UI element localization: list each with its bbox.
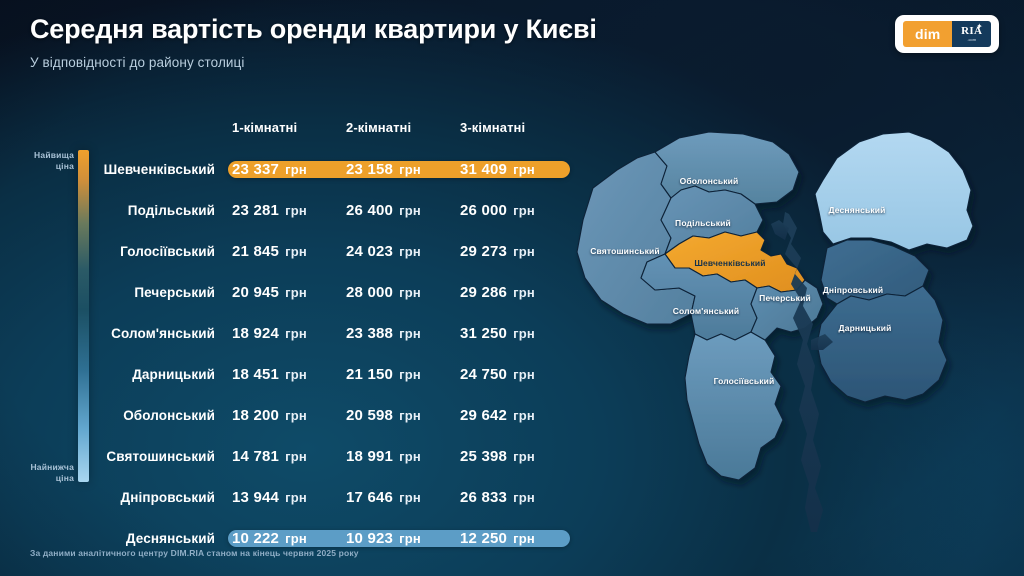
- price-value: 25 398: [460, 448, 507, 465]
- price-scale-gradient: [78, 150, 89, 482]
- source-note: За даними аналітичного центру DIM.RIA ст…: [30, 548, 359, 558]
- table-row[interactable]: Святошинський14 781грн18 991грн25 398грн: [100, 439, 570, 474]
- column-header-2-room: 2-кімнатні: [342, 120, 456, 135]
- currency-label: грн: [513, 531, 535, 546]
- price-cell: 10 222грн: [228, 530, 342, 547]
- currency-label: грн: [285, 367, 307, 382]
- currency-label: грн: [399, 203, 421, 218]
- kyiv-districts-map: ОболонськийПодільськийДеснянськийСвятоши…: [575, 128, 1024, 548]
- map-label: Голосіївський: [714, 376, 775, 386]
- dim-ria-logo[interactable]: dim ✦ RIA .com: [895, 15, 999, 53]
- price-cell: 29 273грн: [456, 243, 570, 260]
- row-values: 18 451грн21 150грн24 750грн: [228, 366, 570, 383]
- district-name: Дарницький: [100, 367, 228, 382]
- district-name: Шевченківський: [100, 162, 228, 177]
- price-cell: 29 642грн: [456, 407, 570, 424]
- scale-label-lowest: Найнижча ціна: [16, 462, 74, 485]
- price-cell: 23 337грн: [228, 161, 342, 178]
- currency-label: грн: [513, 490, 535, 505]
- map-region-holosiivskyi[interactable]: [685, 332, 783, 480]
- currency-label: грн: [513, 162, 535, 177]
- map-region-desnianskyi[interactable]: [815, 132, 973, 250]
- price-value: 31 250: [460, 325, 507, 342]
- price-cell: 29 286грн: [456, 284, 570, 301]
- district-name: Деснянський: [100, 531, 228, 546]
- map-label: Печерський: [759, 293, 811, 303]
- currency-label: грн: [285, 408, 307, 423]
- map-label: Дніпровський: [823, 285, 884, 295]
- district-name: Подільський: [100, 203, 228, 218]
- logo-com-text: .com: [967, 38, 976, 42]
- price-value: 20 945: [232, 284, 279, 301]
- map-label: Шевченківський: [694, 258, 765, 268]
- price-cell: 14 781грн: [228, 448, 342, 465]
- scale-high-line1: Найвища: [34, 150, 74, 160]
- price-cell: 31 409грн: [456, 161, 570, 178]
- district-name: Голосіївський: [100, 244, 228, 259]
- row-values: 10 222грн10 923грн12 250грн: [228, 530, 570, 547]
- district-name: Дніпровський: [100, 490, 228, 505]
- logo-inner: dim ✦ RIA .com: [903, 21, 991, 47]
- price-value: 12 250: [460, 530, 507, 547]
- price-value: 21 150: [346, 366, 393, 383]
- column-header-1-room: 1-кімнатні: [228, 120, 342, 135]
- price-cell: 13 944грн: [228, 489, 342, 506]
- currency-label: грн: [285, 162, 307, 177]
- price-cell: 12 250грн: [456, 530, 570, 547]
- price-cell: 18 991грн: [342, 448, 456, 465]
- price-cell: 23 281грн: [228, 202, 342, 219]
- currency-label: грн: [399, 490, 421, 505]
- price-value: 20 598: [346, 407, 393, 424]
- map-label: Дарницький: [839, 323, 892, 333]
- price-value: 28 000: [346, 284, 393, 301]
- table-row[interactable]: Печерський20 945грн28 000грн29 286грн: [100, 275, 570, 310]
- currency-label: грн: [285, 449, 307, 464]
- price-value: 18 924: [232, 325, 279, 342]
- currency-label: грн: [399, 408, 421, 423]
- price-cell: 31 250грн: [456, 325, 570, 342]
- price-value: 26 400: [346, 202, 393, 219]
- price-value: 10 222: [232, 530, 279, 547]
- currency-label: грн: [285, 285, 307, 300]
- price-value: 29 642: [460, 407, 507, 424]
- price-value: 29 286: [460, 284, 507, 301]
- price-cell: 23 388грн: [342, 325, 456, 342]
- table-body: Шевченківський23 337грн23 158грн31 409гр…: [100, 152, 570, 556]
- row-values: 23 281грн26 400грн26 000грн: [228, 202, 570, 219]
- price-value: 29 273: [460, 243, 507, 260]
- table-row[interactable]: Дніпровський13 944грн17 646грн26 833грн: [100, 480, 570, 515]
- map-svg: [575, 128, 1024, 548]
- price-value: 10 923: [346, 530, 393, 547]
- price-cell: 26 833грн: [456, 489, 570, 506]
- price-value: 23 388: [346, 325, 393, 342]
- price-cell: 18 451грн: [228, 366, 342, 383]
- currency-label: грн: [513, 408, 535, 423]
- price-table: 1-кімнатні 2-кімнатні 3-кімнатні Шевченк…: [100, 120, 570, 562]
- map-river-dnipro: [783, 212, 823, 532]
- row-values: 20 945грн28 000грн29 286грн: [228, 284, 570, 301]
- currency-label: грн: [399, 531, 421, 546]
- price-value: 17 646: [346, 489, 393, 506]
- district-name: Оболонський: [100, 408, 228, 423]
- currency-label: грн: [399, 367, 421, 382]
- price-cell: 18 924грн: [228, 325, 342, 342]
- row-values: 18 200грн20 598грн29 642грн: [228, 407, 570, 424]
- currency-label: грн: [399, 244, 421, 259]
- table-row[interactable]: Солом'янський18 924грн23 388грн31 250грн: [100, 316, 570, 351]
- price-value: 23 337: [232, 161, 279, 178]
- currency-label: грн: [513, 244, 535, 259]
- price-value: 24 023: [346, 243, 393, 260]
- table-row[interactable]: Дарницький18 451грн21 150грн24 750грн: [100, 357, 570, 392]
- price-cell: 28 000грн: [342, 284, 456, 301]
- row-values: 21 845грн24 023грн29 273грн: [228, 243, 570, 260]
- table-row[interactable]: Подільський23 281грн26 400грн26 000грн: [100, 193, 570, 228]
- price-value: 13 944: [232, 489, 279, 506]
- header: Середня вартість оренди квартири у Києві…: [30, 14, 597, 70]
- scale-low-line1: Найнижча: [30, 462, 74, 472]
- currency-label: грн: [399, 285, 421, 300]
- table-row[interactable]: Голосіївський21 845грн24 023грн29 273грн: [100, 234, 570, 269]
- logo-dim-text: dim: [903, 21, 952, 47]
- price-cell: 25 398грн: [456, 448, 570, 465]
- currency-label: грн: [399, 326, 421, 341]
- row-values: 23 337грн23 158грн31 409грн: [228, 161, 570, 178]
- price-cell: 24 750грн: [456, 366, 570, 383]
- price-cell: 10 923грн: [342, 530, 456, 547]
- currency-label: грн: [285, 531, 307, 546]
- row-values: 18 924грн23 388грн31 250грн: [228, 325, 570, 342]
- price-value: 26 833: [460, 489, 507, 506]
- price-value: 21 845: [232, 243, 279, 260]
- price-value: 18 200: [232, 407, 279, 424]
- currency-label: грн: [513, 203, 535, 218]
- table-row[interactable]: Оболонський18 200грн20 598грн29 642грн: [100, 398, 570, 433]
- price-value: 26 000: [460, 202, 507, 219]
- price-value: 24 750: [460, 366, 507, 383]
- currency-label: грн: [285, 326, 307, 341]
- currency-label: грн: [285, 490, 307, 505]
- currency-label: грн: [513, 285, 535, 300]
- currency-label: грн: [285, 203, 307, 218]
- currency-label: грн: [513, 367, 535, 382]
- scale-label-highest: Найвища ціна: [16, 150, 74, 173]
- page-subtitle: У відповідності до району столиці: [30, 55, 597, 70]
- table-header-row: 1-кімнатні 2-кімнатні 3-кімнатні: [100, 120, 570, 152]
- price-cell: 21 150грн: [342, 366, 456, 383]
- currency-label: грн: [513, 449, 535, 464]
- district-name: Солом'янський: [100, 326, 228, 341]
- row-values: 13 944грн17 646грн26 833грн: [228, 489, 570, 506]
- district-name: Святошинський: [100, 449, 228, 464]
- scale-low-line2: ціна: [56, 473, 74, 483]
- price-cell: 20 598грн: [342, 407, 456, 424]
- price-cell: 24 023грн: [342, 243, 456, 260]
- currency-label: грн: [399, 162, 421, 177]
- price-value: 18 451: [232, 366, 279, 383]
- map-label: Подільський: [675, 218, 731, 228]
- row-values: 14 781грн18 991грн25 398грн: [228, 448, 570, 465]
- star-icon: ✦: [976, 24, 985, 30]
- price-cell: 26 000грн: [456, 202, 570, 219]
- map-label: Оболонський: [680, 176, 739, 186]
- map-label: Деснянський: [828, 205, 885, 215]
- price-cell: 20 945грн: [228, 284, 342, 301]
- map-label: Святошинський: [590, 246, 660, 256]
- price-cell: 26 400грн: [342, 202, 456, 219]
- price-value: 31 409: [460, 161, 507, 178]
- page-title: Середня вартість оренди квартири у Києві: [30, 14, 597, 45]
- table-row[interactable]: Шевченківський23 337грн23 158грн31 409гр…: [100, 152, 570, 187]
- currency-label: грн: [285, 244, 307, 259]
- scale-high-line2: ціна: [56, 161, 74, 171]
- logo-ria-badge: ✦ RIA .com: [952, 21, 991, 47]
- price-value: 14 781: [232, 448, 279, 465]
- column-header-3-room: 3-кімнатні: [456, 120, 570, 135]
- price-cell: 23 158грн: [342, 161, 456, 178]
- price-cell: 18 200грн: [228, 407, 342, 424]
- price-value: 23 281: [232, 202, 279, 219]
- district-name: Печерський: [100, 285, 228, 300]
- price-value: 23 158: [346, 161, 393, 178]
- price-cell: 21 845грн: [228, 243, 342, 260]
- price-value: 18 991: [346, 448, 393, 465]
- currency-label: грн: [513, 326, 535, 341]
- map-label: Солом'янський: [673, 306, 740, 316]
- currency-label: грн: [399, 449, 421, 464]
- price-cell: 17 646грн: [342, 489, 456, 506]
